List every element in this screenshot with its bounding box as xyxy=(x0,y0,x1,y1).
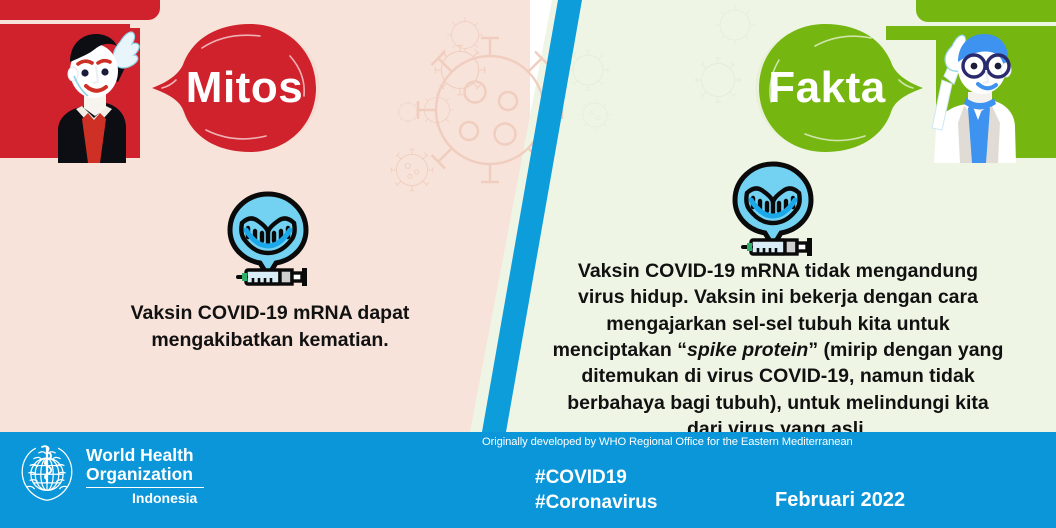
vaccine-syringe-icon xyxy=(727,160,819,258)
credit-line: Originally developed by WHO Regional Off… xyxy=(482,436,853,448)
myth-bubble-label: Mitos xyxy=(186,63,303,113)
publication-date: Februari 2022 xyxy=(775,489,905,512)
myth-body-text: Vaksin COVID-19 mRNA dapat mengakibatkan… xyxy=(100,300,440,354)
myth-speech-bubble: Mitos xyxy=(150,18,325,158)
hashtag-covid19: #COVID19 xyxy=(535,466,657,491)
who-org-line-2: Organization xyxy=(86,465,204,484)
fact-bubble-label: Fakta xyxy=(768,63,885,113)
doctor-with-glasses-pointing-up-illustration xyxy=(918,18,1056,163)
who-divider-rule xyxy=(86,487,204,489)
who-emblem-icon xyxy=(16,442,78,504)
infographic-poster: Mitos Fakta xyxy=(0,0,1056,528)
who-org-line-1: World Health xyxy=(86,446,204,465)
top-left-red-tab xyxy=(0,0,160,20)
who-logo: World Health Organization Indonesia xyxy=(16,442,204,507)
hashtag-coronavirus: #Coronavirus xyxy=(535,491,657,516)
fact-speech-bubble: Fakta xyxy=(745,18,925,158)
fact-text-emphasis: spike protein xyxy=(687,339,808,361)
vaccine-syringe-icon xyxy=(222,190,314,288)
who-country-label: Indonesia xyxy=(132,491,204,506)
fact-body-text: Vaksin COVID-19 mRNA tidak mengandung vi… xyxy=(552,258,1004,442)
footer-bar: World Health Organization Indonesia Orig… xyxy=(0,432,1056,528)
man-pointing-up-illustration xyxy=(28,18,168,163)
hashtags-block: #COVID19 #Coronavirus xyxy=(535,466,657,515)
